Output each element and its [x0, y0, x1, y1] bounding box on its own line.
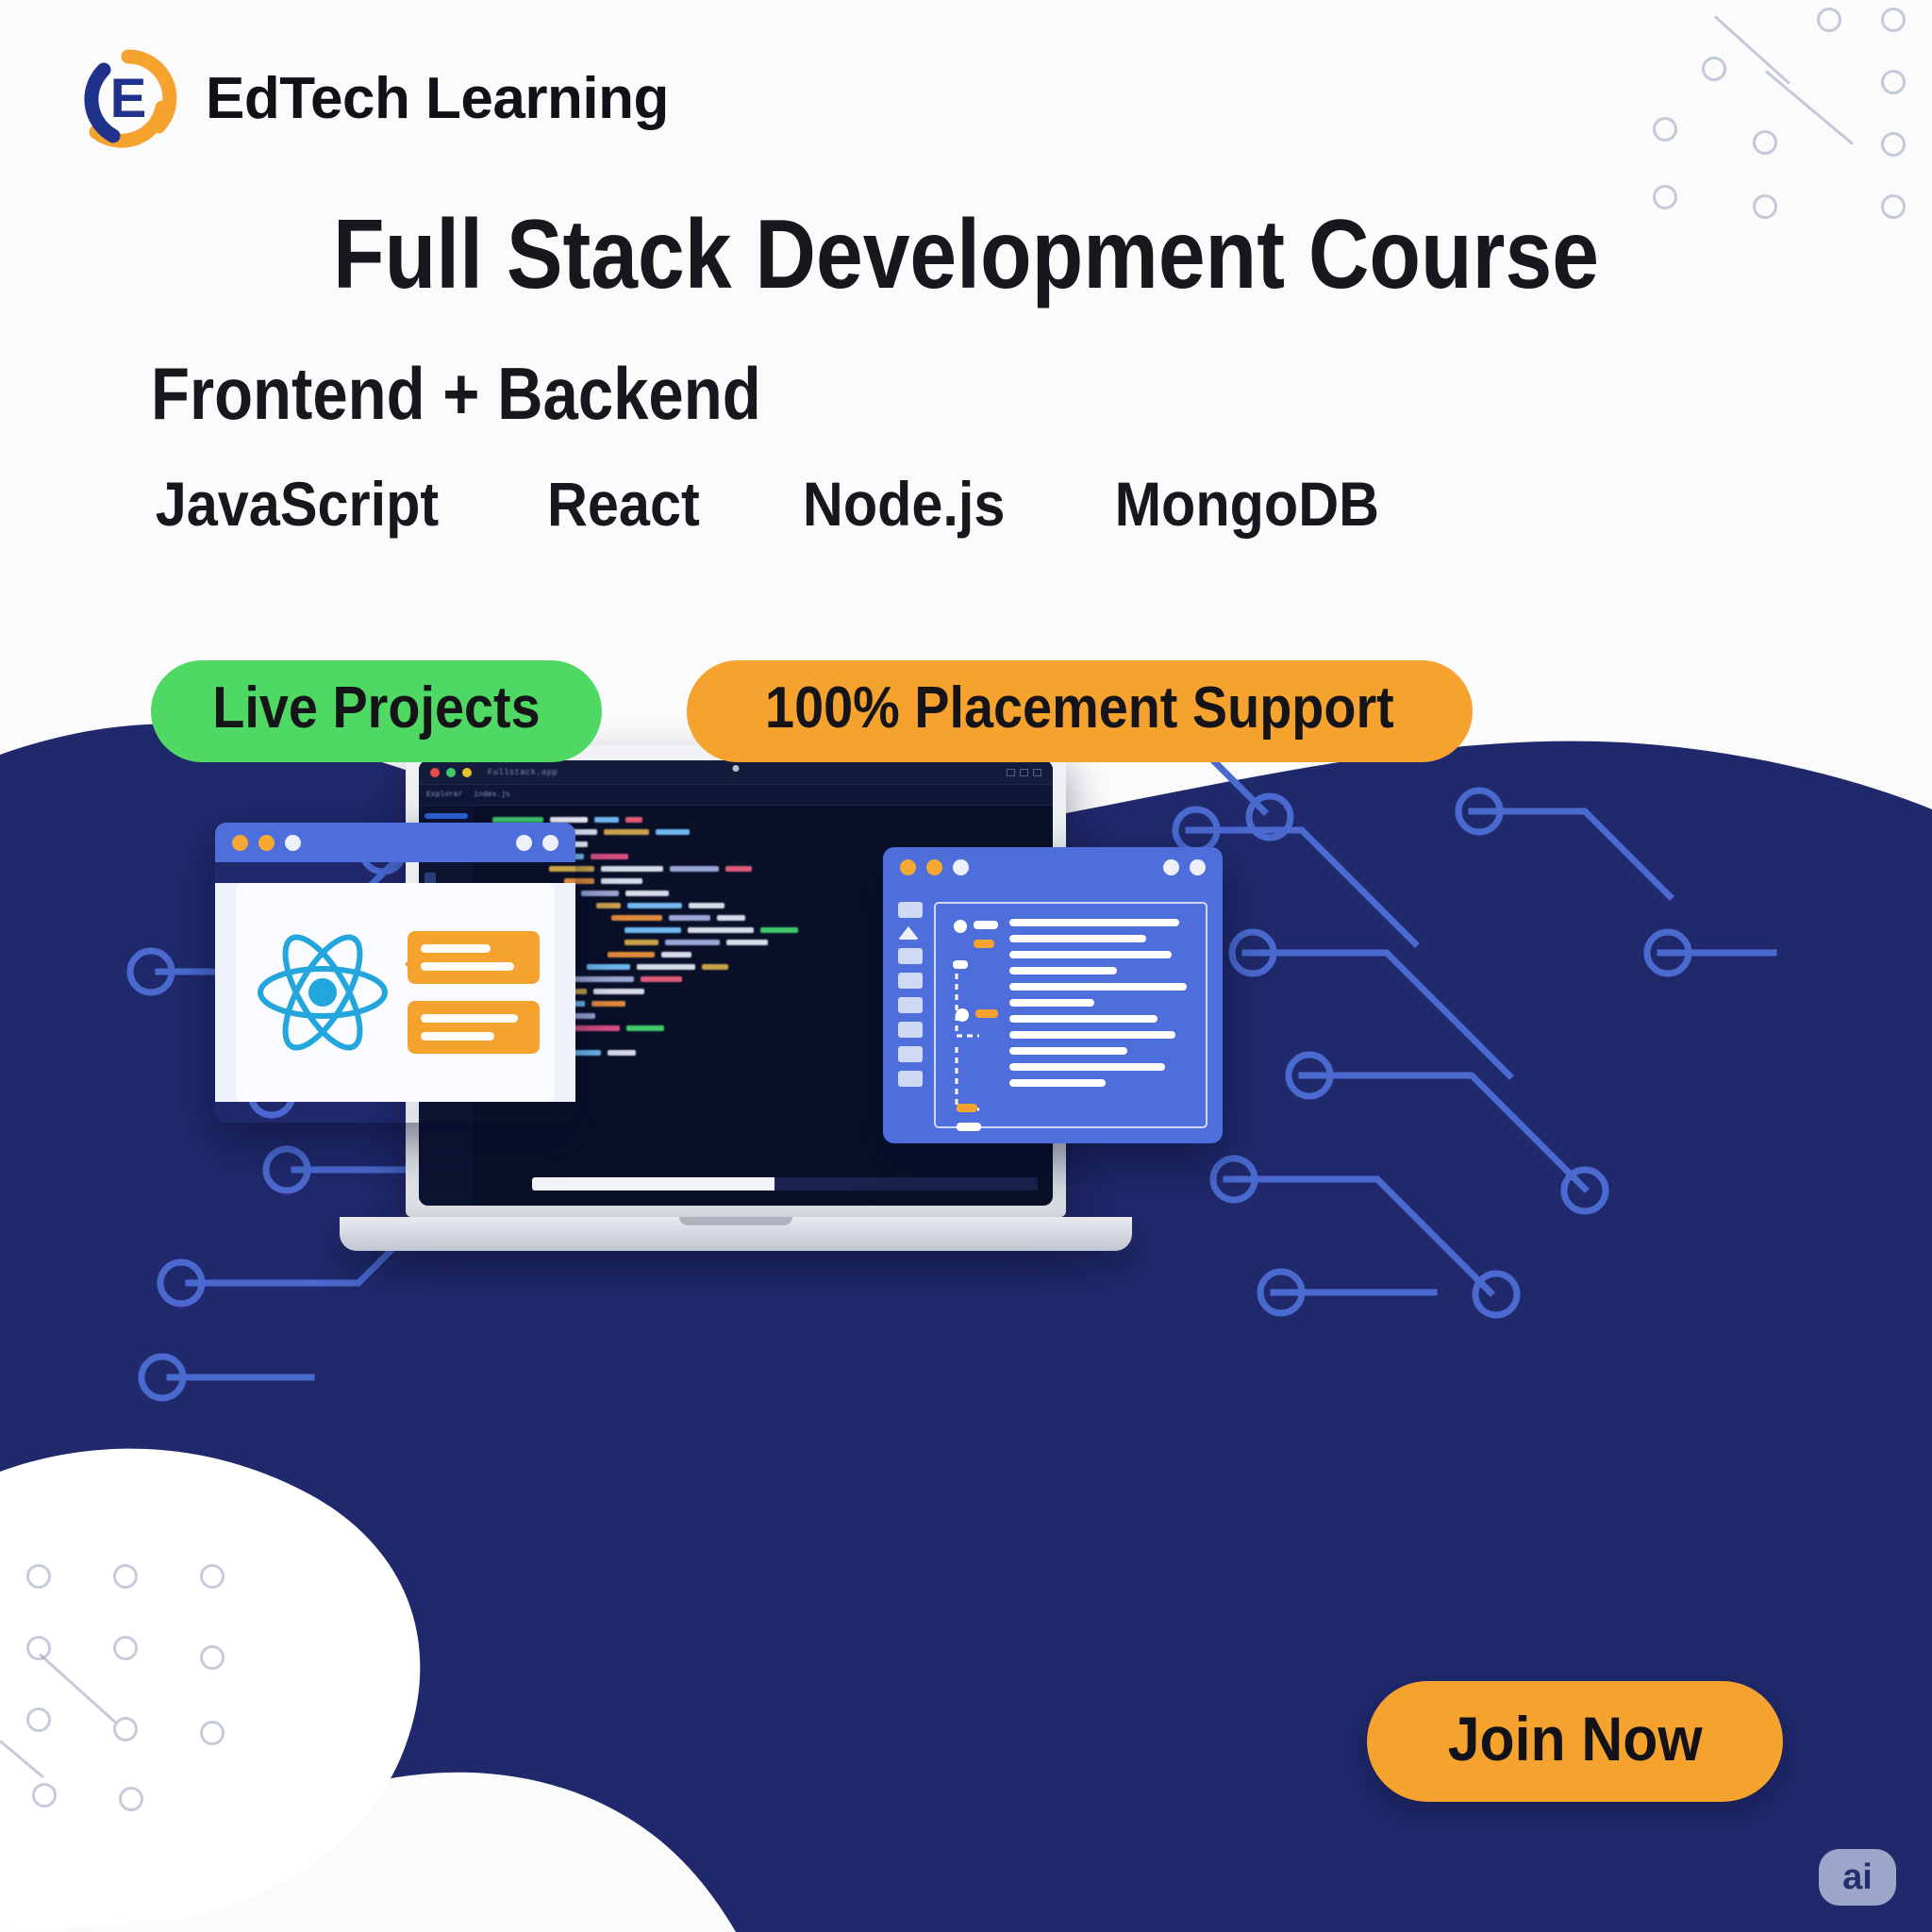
- minimize-icon[interactable]: [446, 768, 456, 777]
- join-now-button[interactable]: Join Now: [1367, 1681, 1783, 1802]
- tab-explorer[interactable]: Explorer: [426, 791, 462, 799]
- minimize-icon[interactable]: [258, 835, 275, 851]
- edtech-circle-e-logo: E: [75, 45, 181, 151]
- window-controls-icon[interactable]: [516, 835, 558, 851]
- window-controls-icon[interactable]: [1007, 769, 1041, 776]
- tech-item-nodejs: Node.js: [803, 468, 1006, 540]
- react-preview-window[interactable]: [215, 823, 575, 1123]
- ai-watermark-badge: ai: [1819, 1849, 1896, 1906]
- editor-tabbar: Explorer index.js: [419, 785, 1053, 806]
- subtitle: Frontend + Backend: [151, 351, 761, 437]
- svg-text:E: E: [110, 68, 147, 129]
- tech-item-mongodb: MongoDB: [1115, 468, 1379, 540]
- close-icon[interactable]: [430, 768, 440, 777]
- feature-badges: Live Projects 100% Placement Support: [151, 660, 1473, 762]
- promo-poster: E EdTech Learning Full Stack Development…: [0, 0, 1932, 1932]
- backend-window-titlebar: [883, 847, 1223, 887]
- react-window-titlebar: [215, 823, 575, 862]
- tech-item-javascript: JavaScript: [156, 468, 439, 540]
- close-icon[interactable]: [900, 859, 916, 875]
- backend-flow-window[interactable]: [883, 847, 1223, 1143]
- react-atom-icon: [251, 921, 394, 1064]
- tech-item-react: React: [547, 468, 700, 540]
- maximize-icon[interactable]: [953, 859, 969, 875]
- maximize-icon[interactable]: [462, 768, 472, 777]
- chat-bubble-2: [408, 1001, 540, 1054]
- brand-name: EdTech Learning: [206, 65, 669, 132]
- minimize-icon[interactable]: [926, 859, 942, 875]
- backend-sidebar: [898, 902, 923, 1128]
- badge-live-projects-label: Live Projects: [212, 679, 540, 738]
- chat-bubbles: [408, 931, 540, 1054]
- maximize-icon[interactable]: [285, 835, 301, 851]
- editor-scrollbar[interactable]: [532, 1177, 1038, 1191]
- tech-stack-row: JavaScript React Node.js MongoDB: [140, 468, 1394, 540]
- page-title: Full Stack Development Course: [333, 206, 1599, 304]
- webcam-icon: [733, 765, 740, 772]
- join-now-label: Join Now: [1447, 1707, 1702, 1770]
- badge-placement-support-label: 100% Placement Support: [765, 679, 1394, 738]
- editor-titlebar: Fullstack.app: [419, 760, 1053, 785]
- editor-title: Fullstack.app: [488, 768, 558, 777]
- backend-window-body: [883, 887, 1223, 1143]
- react-window-body: [215, 883, 575, 1102]
- laptop-base: [340, 1217, 1132, 1251]
- brand-lockup: E EdTech Learning: [75, 45, 669, 151]
- close-icon[interactable]: [232, 835, 248, 851]
- window-controls-icon[interactable]: [1163, 859, 1206, 875]
- backend-text-lines: [1009, 915, 1194, 1115]
- badge-live-projects: Live Projects: [151, 660, 602, 762]
- play-icon: [898, 926, 919, 940]
- chat-bubble-1: [408, 931, 540, 984]
- backend-flow-icon: [947, 915, 1000, 1115]
- tab-index-js[interactable]: index.js: [474, 791, 509, 799]
- backend-diagram-panel: [934, 902, 1207, 1128]
- badge-placement-support: 100% Placement Support: [687, 660, 1473, 762]
- ai-watermark-label: ai: [1842, 1857, 1873, 1898]
